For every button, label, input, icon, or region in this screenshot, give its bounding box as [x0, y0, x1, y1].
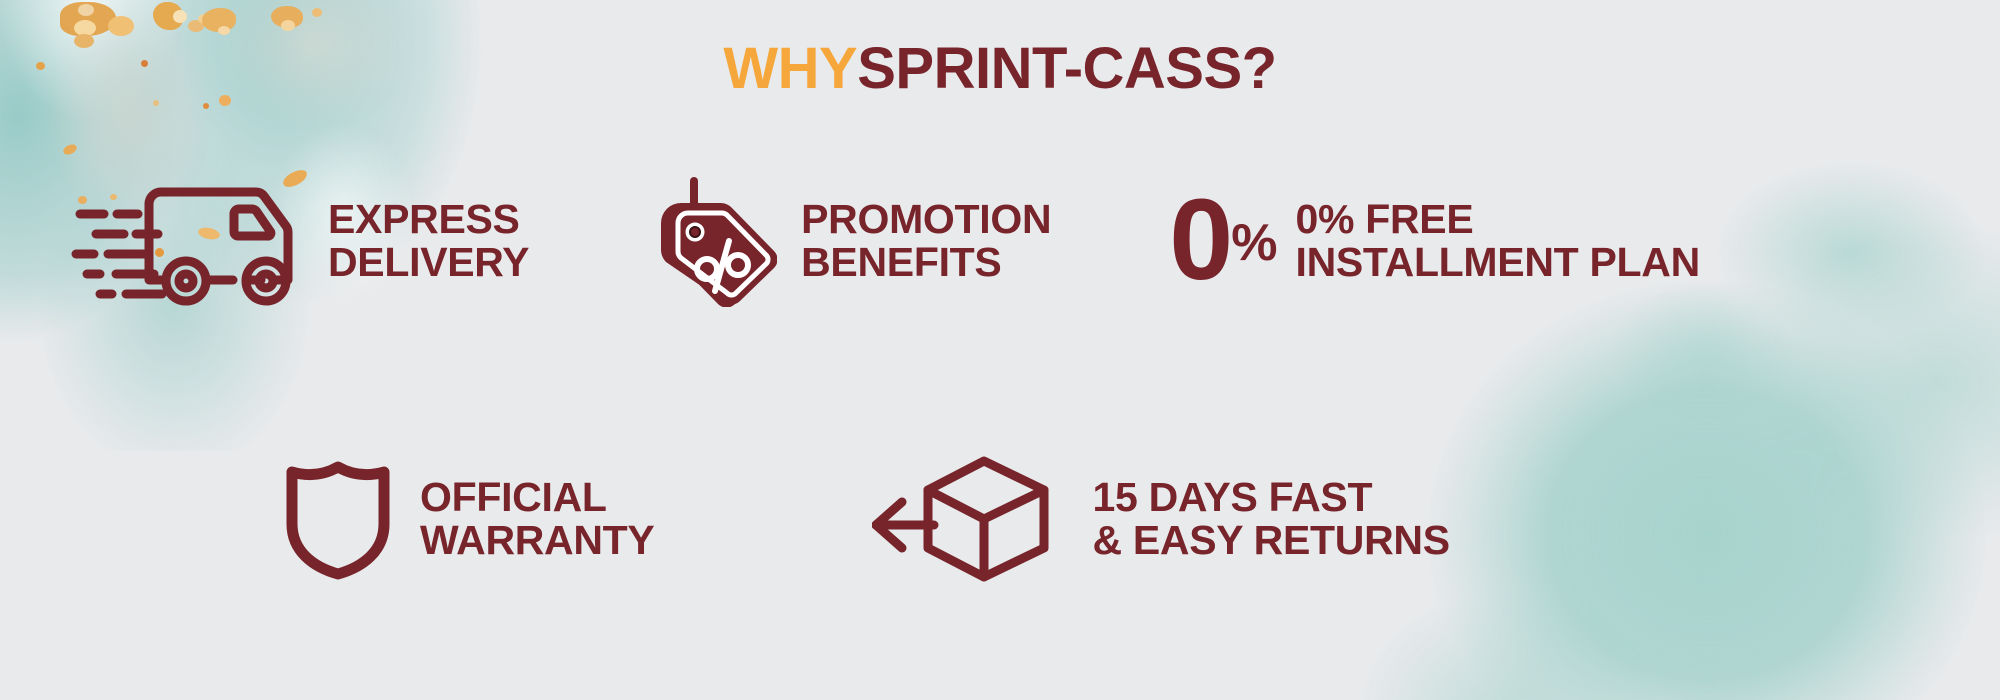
- feature-label: 0% FREE INSTALLMENT PLAN: [1295, 198, 1699, 285]
- gold-speck: [281, 20, 295, 31]
- feature-label: OFFICIAL WARRANTY: [420, 476, 654, 563]
- gold-speck: [62, 142, 78, 156]
- gold-speck: [173, 10, 187, 23]
- background-texture: [0, 0, 2000, 700]
- shield-icon: [282, 458, 394, 580]
- gold-speck: [153, 2, 183, 30]
- zero-digit: 0: [1169, 189, 1229, 293]
- gold-speck: [202, 8, 236, 32]
- gold-speck: [203, 103, 209, 109]
- feature-zero-installment[interactable]: 0 % 0% FREE INSTALLMENT PLAN: [1169, 189, 1700, 293]
- gold-speck: [108, 16, 134, 36]
- feature-label: 15 DAYS FAST & EASY RETURNS: [1092, 476, 1449, 563]
- feature-row-1: EXPRESS DELIVERY: [0, 175, 2000, 307]
- feature-express-delivery[interactable]: EXPRESS DELIVERY: [70, 176, 529, 306]
- gold-speck: [271, 6, 303, 28]
- percent-superscript: %: [1231, 220, 1277, 267]
- feature-official-warranty[interactable]: OFFICIAL WARRANTY: [282, 458, 654, 580]
- banner-title: WHYSPRINT-CASS?: [0, 40, 2000, 98]
- feature-label: EXPRESS DELIVERY: [328, 198, 529, 285]
- title-brand: SPRINT-CASS?: [857, 36, 1276, 101]
- zero-percent-icon: 0 %: [1169, 189, 1277, 293]
- gold-speck: [74, 20, 96, 36]
- delivery-truck-icon: [70, 176, 302, 306]
- gold-speck: [312, 8, 322, 17]
- feature-easy-returns[interactable]: 15 DAYS FAST & EASY RETURNS: [872, 455, 1449, 583]
- title-highlight: WHY: [723, 36, 857, 101]
- gold-speck: [153, 100, 159, 106]
- gold-speck: [60, 2, 116, 36]
- price-tag-percent-icon: [649, 175, 777, 307]
- gold-speck: [78, 4, 94, 16]
- gold-speck: [198, 14, 212, 24]
- gold-speck: [218, 26, 230, 35]
- promo-banner: WHYSPRINT-CASS?: [0, 0, 2000, 700]
- feature-row-2: OFFICIAL WARRANTY 15 DAYS FAST &: [0, 455, 2000, 583]
- feature-label: PROMOTION BENEFITS: [801, 198, 1051, 285]
- gold-speck: [188, 20, 204, 32]
- feature-promotion-benefits[interactable]: PROMOTION BENEFITS: [649, 175, 1051, 307]
- return-box-icon: [872, 455, 1072, 583]
